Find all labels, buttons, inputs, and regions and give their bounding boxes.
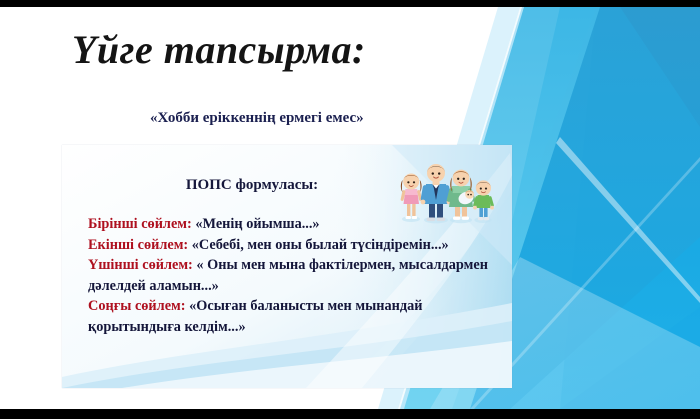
- page-title: Үйге тапсырма:: [72, 29, 366, 71]
- sentence-item-2: Екінші сөйлем: «Себебі, мен оны былай тү…: [88, 235, 488, 256]
- slide-root: Үйге тапсырма: «Хобби еріккеннің ермегі …: [0, 0, 700, 419]
- sentence-label-1: Бірінші сөйлем:: [88, 216, 192, 232]
- content-card: ПОПС формуласы: Бірінші сөйлем: «Менің о…: [62, 145, 512, 388]
- letterbox-bar-top: [0, 0, 700, 7]
- sentence-label-3: Үшінші сөйлем:: [88, 257, 193, 273]
- letterbox-bar-bottom: [0, 409, 700, 419]
- card-heading: ПОПС формуласы:: [62, 177, 512, 194]
- popс-formula-sentences: Бірінші сөйлем: «Менің ойымша...» Екінші…: [88, 214, 488, 337]
- sentence-item-1: Бірінші сөйлем: «Менің ойымша...»: [88, 214, 488, 235]
- sentence-item-3: Үшінші сөйлем: « Оны мен мына фактілерме…: [88, 255, 488, 296]
- slide-canvas: Үйге тапсырма: «Хобби еріккеннің ермегі …: [0, 7, 700, 409]
- sentence-label-2: Екінші сөйлем:: [88, 237, 188, 253]
- sentence-item-4: Соңғы сөйлем: «Осыған баланысты мен мына…: [88, 296, 488, 337]
- sentence-text-1: «Менің ойымша...»: [192, 216, 320, 232]
- sentence-label-4: Соңғы сөйлем:: [88, 298, 186, 314]
- subtitle-quote: «Хобби еріккеннің ермегі емес»: [150, 110, 364, 127]
- sentence-text-2: «Себебі, мен оны былай түсіндіремін...»: [188, 237, 449, 253]
